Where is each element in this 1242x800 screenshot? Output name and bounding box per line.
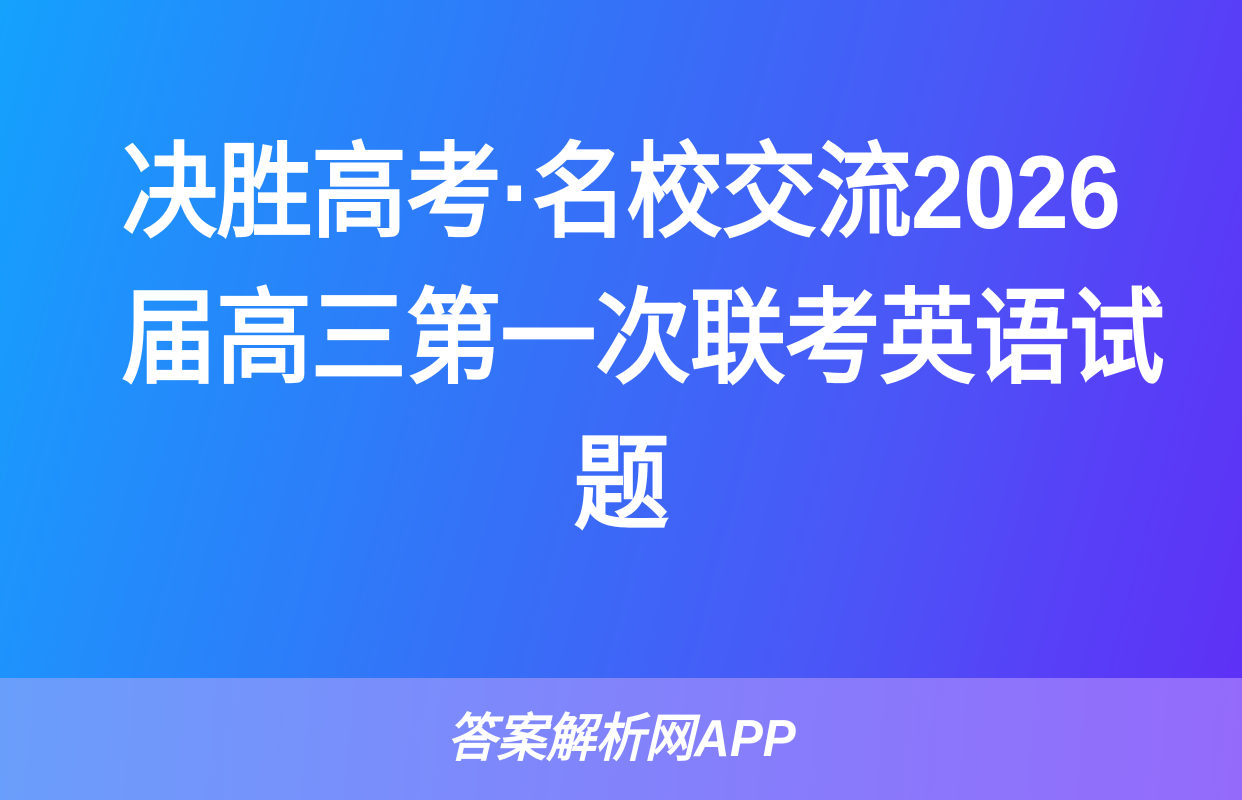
footer-band: 答案解析网APP	[0, 678, 1242, 800]
hero-section: 决胜高考·名校交流2026 届高三第一次联考英语试 题	[0, 0, 1242, 678]
title-line-3: 题	[121, 412, 1120, 558]
title-line-1: 决胜高考·名校交流2026	[121, 120, 1120, 266]
page-title: 决胜高考·名校交流2026 届高三第一次联考英语试 题	[78, 120, 1164, 558]
title-line-2: 届高三第一次联考英语试	[121, 266, 1120, 412]
exam-cover-banner: 决胜高考·名校交流2026 届高三第一次联考英语试 题 答案解析网APP	[0, 0, 1242, 800]
app-name-label: 答案解析网APP	[447, 711, 796, 767]
